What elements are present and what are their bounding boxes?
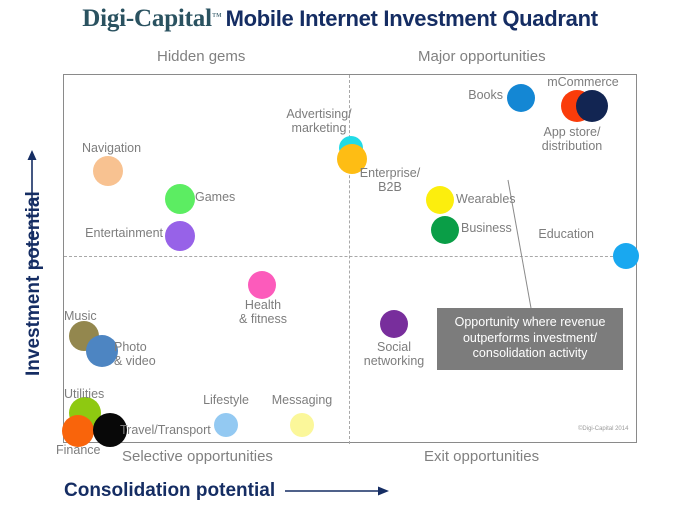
bubble-books[interactable]	[507, 84, 535, 112]
bubble-navigation[interactable]	[93, 156, 123, 186]
quadrant-label-hidden-gems: Hidden gems	[157, 48, 245, 65]
callout-box: Opportunity where revenue outperforms in…	[437, 308, 623, 370]
x-axis-label: Consolidation potential	[64, 480, 275, 502]
bubble-label-music: Music	[64, 310, 97, 324]
bubble-education[interactable]	[613, 243, 639, 269]
bubble-label-messaging: Messaging	[272, 394, 332, 408]
bubble-label-games: Games	[195, 191, 235, 205]
bubble-wearables[interactable]	[426, 186, 454, 214]
quadrant-label-exit-opportunities: Exit opportunities	[424, 448, 539, 465]
bubble-label-health-fitness: Health & fitness	[239, 299, 287, 326]
bubble-messaging[interactable]	[290, 413, 314, 437]
y-axis: Investment potential	[12, 150, 52, 460]
x-axis-arrow-icon	[285, 484, 390, 498]
bubble-label-photo-video: Photo & video	[114, 341, 156, 368]
bubble-label-app-store-distribution: App store/ distribution	[542, 126, 602, 153]
page-title: Digi-Capital™Mobile Internet Investment …	[0, 5, 680, 33]
horizontal-divider-line	[64, 256, 638, 257]
bubble-social-networking[interactable]	[380, 310, 408, 338]
title-main-text: Mobile Internet Investment Quadrant	[226, 6, 598, 31]
brand-name: Digi-Capital	[82, 5, 212, 32]
bubble-label-entertainment: Entertainment	[85, 227, 163, 241]
y-axis-label: Investment potential	[23, 206, 45, 376]
quadrant-chart-root: Digi-Capital™Mobile Internet Investment …	[0, 0, 680, 509]
quadrant-label-selective-opportunities: Selective opportunities	[122, 448, 273, 465]
bubble-app-store-distribution[interactable]	[576, 90, 608, 122]
bubble-label-education: Education	[538, 228, 594, 242]
bubble-label-enterprise-b2b: Enterprise/ B2B	[360, 167, 420, 194]
bubble-business[interactable]	[431, 216, 459, 244]
bubble-label-books: Books	[468, 89, 503, 103]
bubble-label-mcommerce: mCommerce	[547, 76, 619, 90]
bubble-label-lifestyle: Lifestyle	[203, 394, 249, 408]
bubble-games[interactable]	[165, 184, 195, 214]
bubble-entertainment[interactable]	[165, 221, 195, 251]
bubble-label-finance: Finance	[56, 444, 100, 458]
bubble-label-utilities: Utilities	[64, 388, 104, 402]
trademark-symbol: ™	[212, 12, 222, 23]
bubble-label-social-networking: Social networking	[364, 341, 424, 368]
x-axis: Consolidation potential	[64, 477, 390, 505]
bubble-lifestyle[interactable]	[214, 413, 238, 437]
bubble-label-advertising-marketing: Advertising/ marketing	[286, 108, 351, 135]
bubble-health-fitness[interactable]	[248, 271, 276, 299]
bubble-label-navigation: Navigation	[82, 142, 141, 156]
bubble-label-travel-transport: Travel/Transport	[120, 424, 211, 438]
bubble-label-wearables: Wearables	[456, 193, 516, 207]
quadrant-label-major-opportunities: Major opportunities	[418, 48, 546, 65]
copyright-text: ©Digi-Capital 2014	[578, 426, 628, 432]
bubble-label-business: Business	[461, 222, 512, 236]
